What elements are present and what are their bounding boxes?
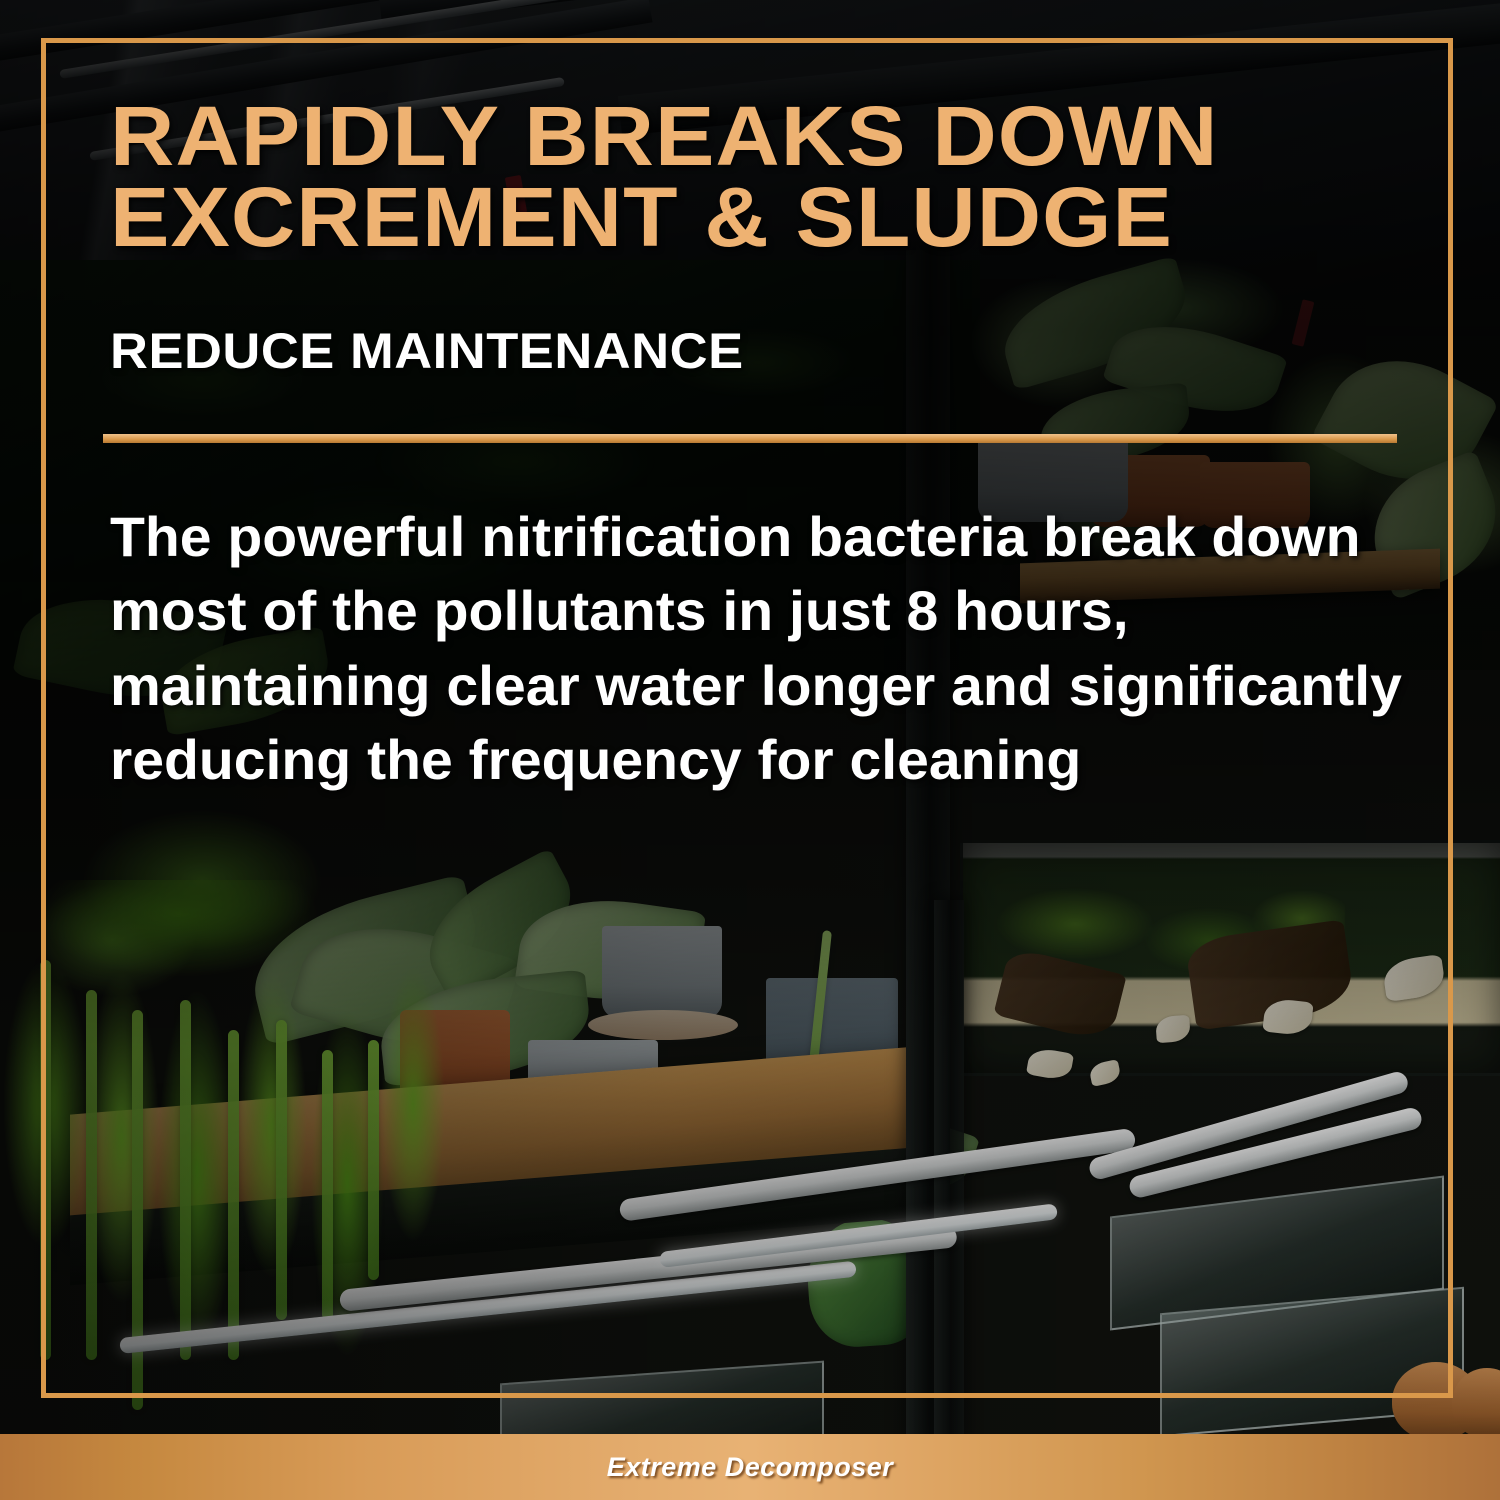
pot-saucer <box>588 1010 738 1040</box>
headline: RAPIDLY BREAKS DOWN EXCREMENT & SLUDGE <box>110 96 1477 259</box>
fern-strand <box>40 960 51 1360</box>
fern-strand <box>322 1050 333 1320</box>
product-name-label: Extreme Decomposer <box>0 1434 1500 1500</box>
fern-strand <box>276 1020 287 1320</box>
product-feature-poster: RAPIDLY BREAKS DOWN EXCREMENT & SLUDGE R… <box>0 0 1500 1500</box>
fern-strand <box>180 1000 191 1360</box>
fern-strand <box>368 1040 379 1280</box>
fern-strand <box>86 990 97 1360</box>
gold-divider-rule <box>103 434 1397 443</box>
grey-planter-pot <box>602 926 722 1018</box>
subheadline: REDUCE MAINTENANCE <box>110 322 744 380</box>
body-paragraph: The powerful nitrification bacteria brea… <box>110 500 1416 798</box>
fern-strand <box>228 1030 239 1360</box>
footer-bar: Extreme Decomposer <box>0 1434 1500 1500</box>
